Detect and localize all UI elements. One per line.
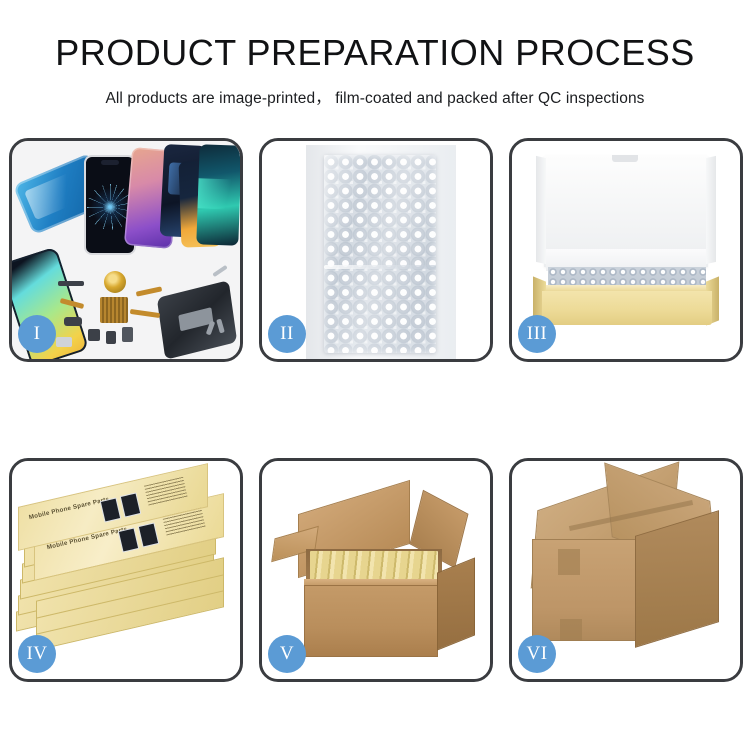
battery-connector-part	[122, 327, 133, 342]
sealed-carton-tape-patch-bottom	[560, 619, 582, 641]
speaker-part	[58, 281, 84, 286]
carton-front-panel	[304, 585, 438, 657]
page-title: PRODUCT PREPARATION PROCESS	[0, 32, 750, 74]
sim-tray-part	[106, 331, 116, 344]
camera-module-part	[64, 317, 82, 326]
bubble-wrap-seam	[324, 265, 436, 269]
step-panel-3: III	[509, 138, 743, 362]
step-panel-2: II	[259, 138, 493, 362]
box-lid-notch	[612, 155, 638, 162]
step-image-sealed-carton: VI	[512, 461, 740, 679]
teal-gradient-phone	[196, 144, 240, 245]
step-badge-6: VI	[518, 635, 556, 673]
gold-contact-chip	[100, 297, 128, 323]
step-badge-2: II	[268, 315, 306, 353]
step-panel-6: VI	[509, 458, 743, 682]
vibrator-part	[88, 329, 100, 341]
tweezers-tool	[212, 265, 228, 277]
step-image-stacked-boxes: Mobile Phone Spare Parts Mobile Phone Sp…	[12, 461, 240, 679]
step-image-inner-box: III	[512, 141, 740, 359]
carton-right-panel	[437, 557, 475, 650]
sealed-carton-side-panel	[635, 510, 719, 648]
header: PRODUCT PREPARATION PROCESS All products…	[0, 0, 750, 128]
step-badge-1: I	[18, 315, 56, 353]
step-image-open-carton: V	[262, 461, 490, 679]
earpiece-mesh-part	[56, 337, 72, 347]
page-subtitle: All products are image-printed， film-coa…	[0, 86, 750, 108]
sealed-carton-tape-patch-top	[558, 549, 580, 575]
step-badge-5: V	[268, 635, 306, 673]
step-image-products-and-parts: I	[12, 141, 240, 359]
steps-grid: I II III	[9, 138, 741, 682]
box-front-panel	[542, 291, 712, 325]
step-badge-3: III	[518, 315, 556, 353]
step-image-bubble-wrap: II	[262, 141, 490, 359]
step-panel-1: I	[9, 138, 243, 362]
sealed-carton-front-panel	[532, 539, 636, 641]
flex-cable-2	[130, 309, 160, 318]
phone-back-housing	[157, 280, 237, 359]
step-badge-4: IV	[18, 635, 56, 673]
bubble-wrap-sheet	[324, 155, 436, 353]
flex-cable-1	[136, 286, 162, 296]
step-panel-4: Mobile Phone Spare Parts Mobile Phone Sp…	[9, 458, 243, 682]
wireless-charging-coil	[104, 271, 126, 293]
product-preparation-infographic: PRODUCT PREPARATION PROCESS All products…	[0, 0, 750, 750]
step-panel-5: V	[259, 458, 493, 682]
